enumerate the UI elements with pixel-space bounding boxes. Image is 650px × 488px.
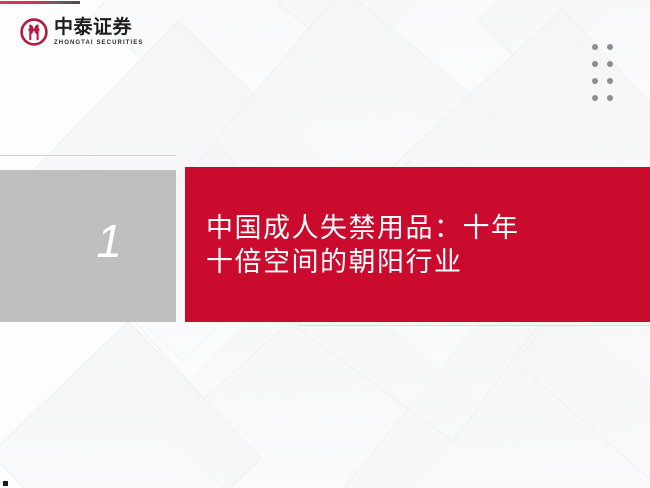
- dot: [592, 44, 598, 50]
- background-diamond: [478, 0, 650, 164]
- divider-below-banner: [298, 325, 650, 326]
- corner-marker-icon: [3, 481, 8, 486]
- company-name-cn: 中泰证券: [54, 18, 143, 37]
- section-number-box: 1: [0, 170, 176, 322]
- company-name-en: ZHONGTAI SECURITIES: [54, 40, 143, 46]
- section-number: 1: [96, 218, 122, 264]
- company-logo-text: 中泰证券 ZHONGTAI SECURITIES: [54, 18, 143, 46]
- dot: [607, 44, 613, 50]
- divider-above-number-box: [0, 155, 176, 156]
- dot-grid-icon: [592, 44, 613, 101]
- background-diamond: [0, 320, 262, 488]
- presentation-slide: 中泰证券 ZHONGTAI SECURITIES 1 中国成人失禁用品：十年 十…: [0, 0, 650, 488]
- dot: [607, 95, 613, 101]
- background-diamond: [277, 0, 645, 165]
- top-accent-bar: [0, 1, 80, 4]
- title-banner: 中国成人失禁用品：十年 十倍空间的朝阳行业: [185, 167, 650, 322]
- dot: [592, 95, 598, 101]
- dot: [592, 61, 598, 67]
- company-logo: 中泰证券 ZHONGTAI SECURITIES: [20, 18, 143, 46]
- dot: [607, 78, 613, 84]
- zhongtai-circle-logo-icon: [20, 18, 48, 46]
- dot: [592, 78, 598, 84]
- dot: [607, 61, 613, 67]
- slide-title: 中国成人失禁用品：十年 十倍空间的朝阳行业: [206, 212, 520, 281]
